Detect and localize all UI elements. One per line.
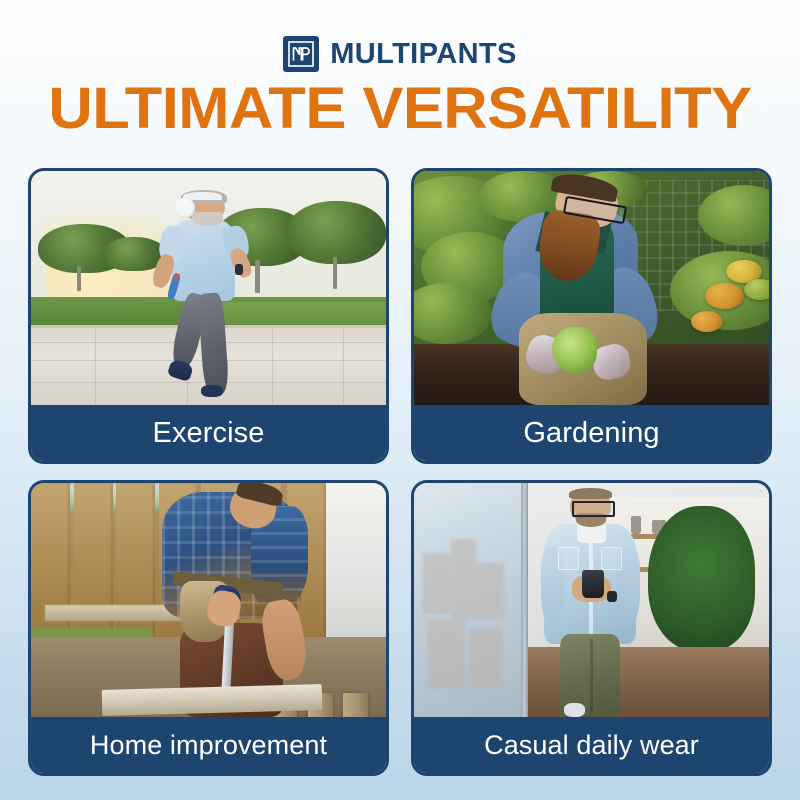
use-case-label-home-improvement: Home improvement — [31, 717, 386, 773]
use-case-card-home-improvement[interactable]: Home improvement — [28, 480, 389, 776]
home-improvement-photo — [31, 483, 386, 717]
exercise-photo — [31, 171, 386, 405]
carpenter-figure — [148, 483, 326, 717]
use-case-card-casual-daily-wear[interactable]: Casual daily wear — [411, 480, 772, 776]
use-case-card-exercise[interactable]: Exercise — [28, 168, 389, 464]
promo-poster: MULTIPANTS ULTIMATE VERSATILITY — [0, 0, 800, 800]
use-case-label-casual-daily-wear: Casual daily wear — [414, 717, 769, 773]
casual-daily-wear-photo — [414, 483, 769, 717]
use-case-card-gardening[interactable]: Gardening — [411, 168, 772, 464]
jogger-figure — [148, 192, 269, 393]
brand-lockup: MULTIPANTS — [0, 32, 800, 76]
use-case-label-gardening: Gardening — [414, 405, 769, 461]
multipants-monogram-icon — [283, 36, 319, 72]
page-title: ULTIMATE VERSATILITY — [0, 78, 800, 140]
gardener-figure — [478, 176, 684, 405]
brand-wordmark: MULTIPANTS — [330, 40, 517, 69]
use-case-label-exercise: Exercise — [31, 405, 386, 461]
gardening-photo — [414, 171, 769, 405]
use-case-grid: Exercise — [28, 168, 772, 776]
casual-man-figure — [531, 488, 652, 717]
